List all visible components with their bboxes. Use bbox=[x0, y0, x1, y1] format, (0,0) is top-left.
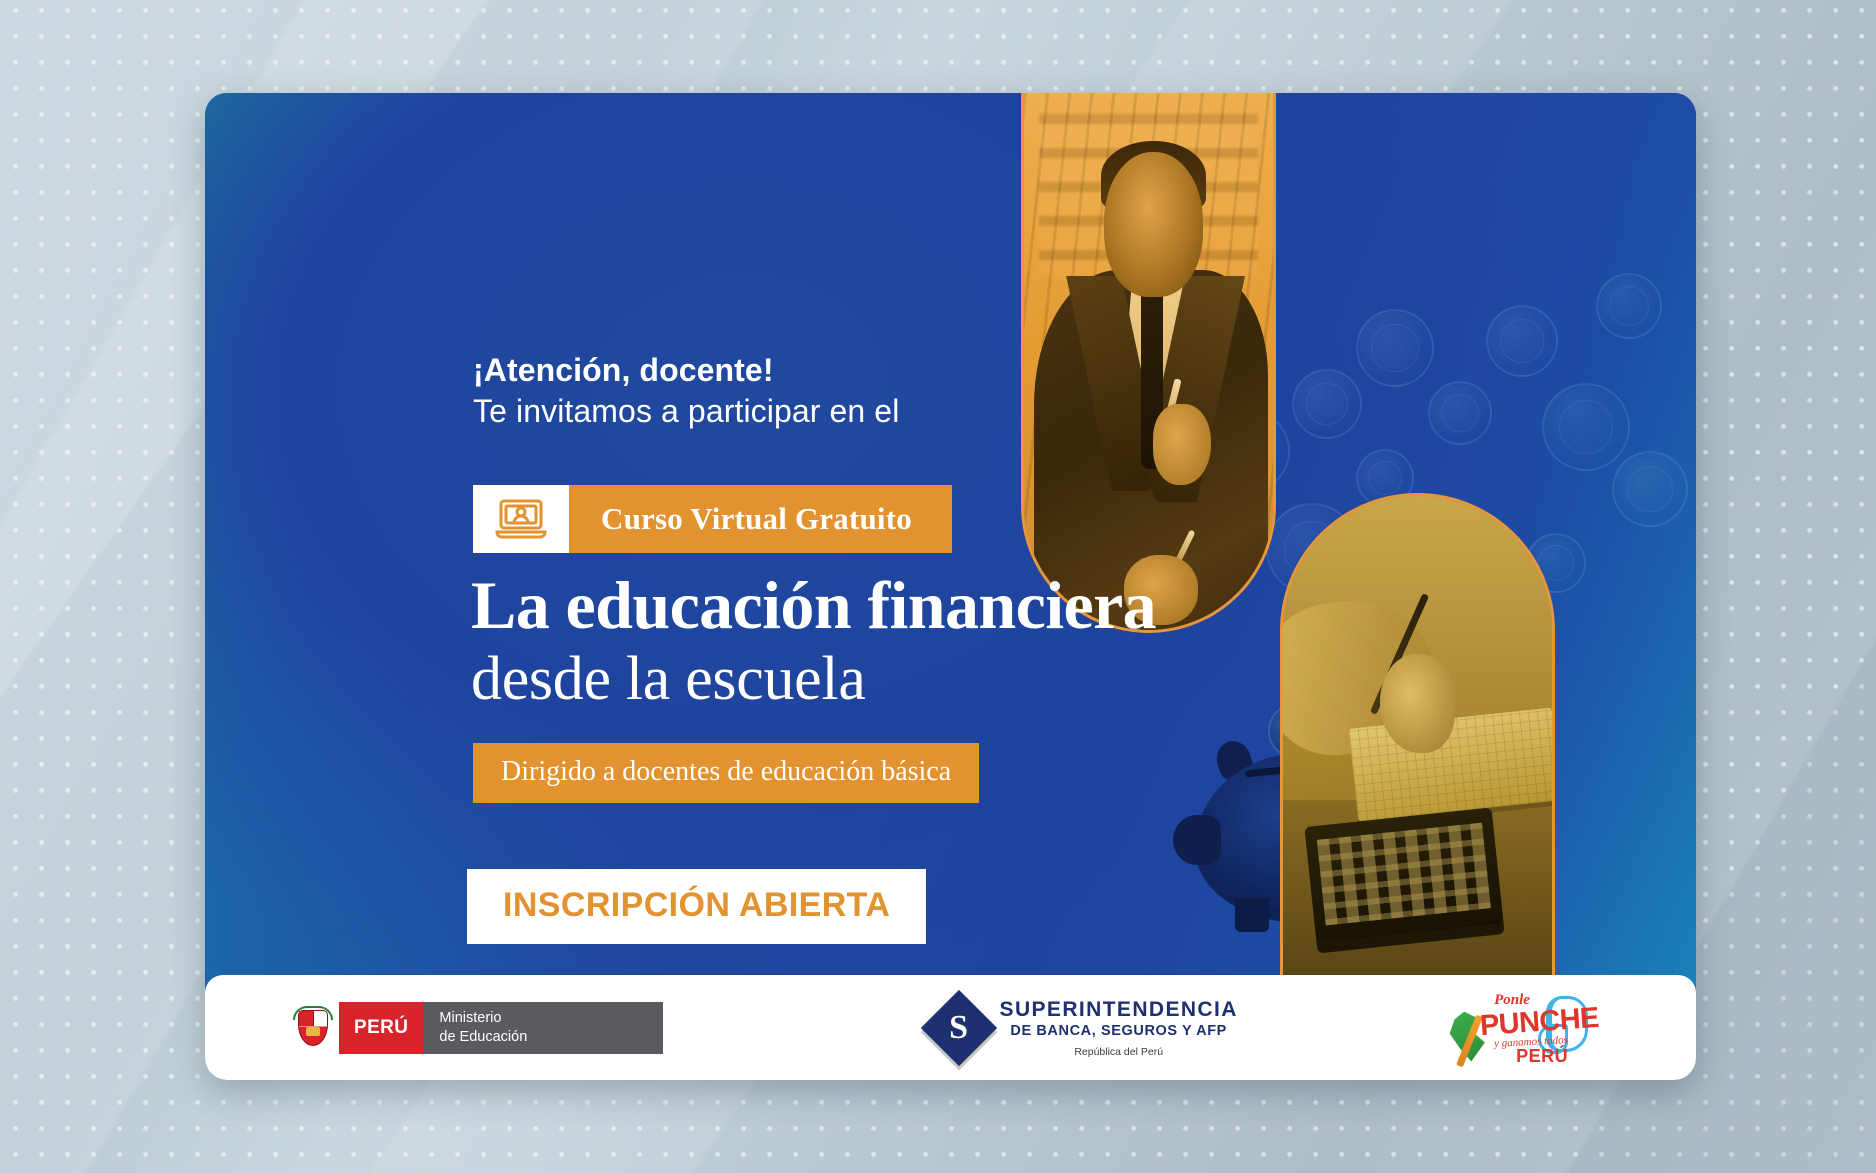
course-badge: Curso Virtual Gratuito bbox=[473, 485, 952, 553]
sbs-logo: S SUPERINTENDENCIA DE BANCA, SEGUROS Y A… bbox=[831, 975, 1338, 1080]
minedu-logo: PERÚ Ministerio de Educación bbox=[205, 975, 831, 1080]
piggy-snout bbox=[1173, 815, 1221, 865]
promo-card: ¡Atención, docente! Te invitamos a parti… bbox=[205, 93, 1696, 1080]
footer-logos: PERÚ Ministerio de Educación S SUPERINTE… bbox=[205, 975, 1696, 1080]
peru-label: PERÚ bbox=[339, 1002, 423, 1054]
kicker-text: ¡Atención, docente! Te invitamos a parti… bbox=[473, 351, 899, 431]
ministry-label: Ministerio de Educación bbox=[423, 1002, 663, 1054]
audience-bar: Dirigido a docentes de educación básica bbox=[473, 743, 979, 803]
title-line-1: La educación financiera bbox=[471, 571, 1156, 640]
punche-word-4: PERÚ bbox=[1516, 1046, 1568, 1067]
inscription-open-button[interactable]: INSCRIPCIÓN ABIERTA bbox=[467, 869, 926, 944]
sbs-diamond-s-icon: S bbox=[932, 1001, 986, 1055]
sbs-line-3: República del Perú bbox=[1074, 1046, 1163, 1058]
kicker-line-1: ¡Atención, docente! bbox=[473, 351, 899, 391]
teacher-with-pen-photo bbox=[1021, 93, 1276, 633]
ponle-punche-peru-logo: Ponle PUNCHE y ganamos todos PERÚ bbox=[1338, 975, 1696, 1080]
laptop-person-icon bbox=[473, 485, 569, 553]
piggy-leg bbox=[1235, 898, 1269, 932]
sbs-line-1: SUPERINTENDENCIA bbox=[1000, 998, 1238, 1022]
peru-coat-of-arms-icon bbox=[287, 1002, 339, 1054]
sbs-line-2: DE BANCA, SEGUROS Y AFP bbox=[1010, 1023, 1227, 1039]
title-line-2: desde la escuela bbox=[471, 648, 1156, 711]
page-title: La educación financiera desde la escuela bbox=[471, 571, 1156, 712]
course-badge-label: Curso Virtual Gratuito bbox=[569, 485, 952, 553]
kicker-line-2: Te invitamos a participar en el bbox=[473, 391, 899, 431]
ministry-line-1: Ministerio bbox=[439, 1010, 501, 1026]
ministry-line-2: de Educación bbox=[439, 1029, 527, 1045]
